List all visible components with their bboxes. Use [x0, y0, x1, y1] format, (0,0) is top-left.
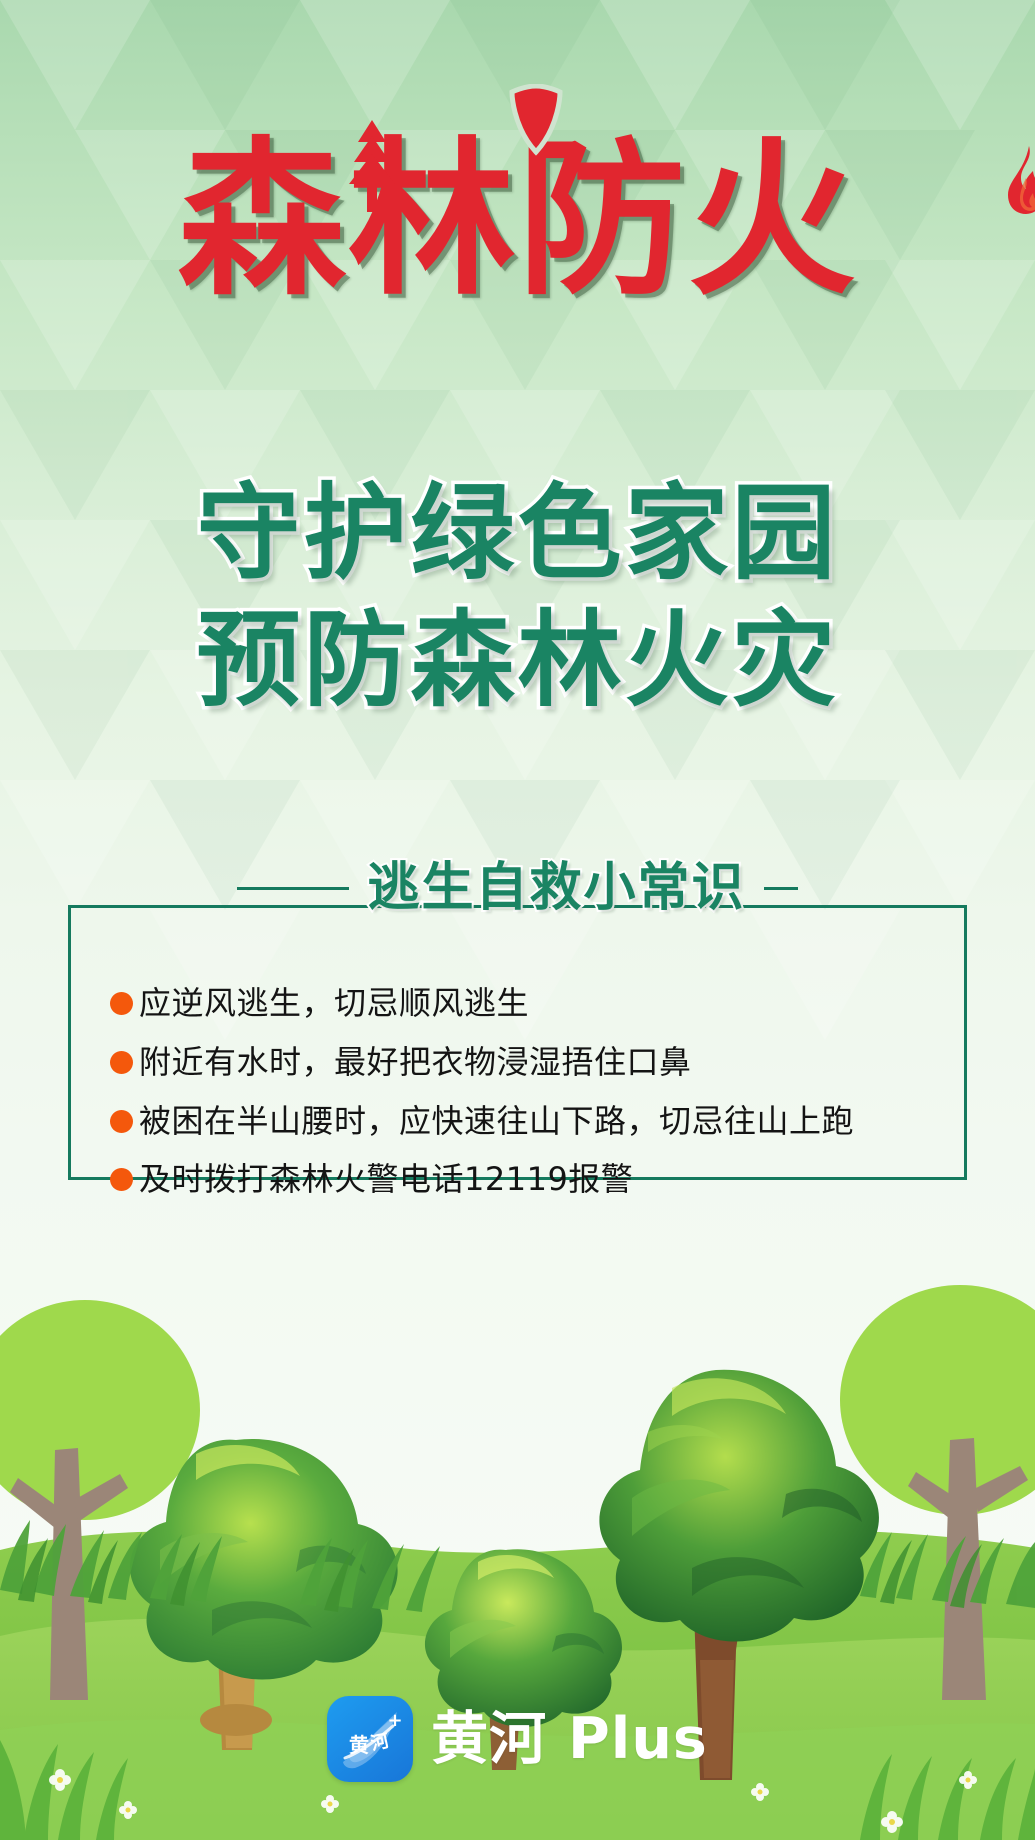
flame-icon	[999, 144, 1035, 216]
huanghe-plus-app-icon[interactable]: 黄 河 +	[327, 1696, 413, 1782]
orange-dot-bullet-icon	[110, 1168, 133, 1191]
shield-icon	[508, 84, 564, 156]
subtitle-block: 守护绿色家园 预防森林火灾	[0, 470, 1035, 724]
orange-dot-bullet-icon	[110, 992, 133, 1015]
tip-text: 附近有水时，最好把衣物浸湿捂住口鼻	[139, 1044, 692, 1082]
tips-header-label: 逃生自救小常识	[367, 862, 745, 914]
page-title: 森林防火	[178, 136, 858, 304]
list-item: 附近有水时，最好把衣物浸湿捂住口鼻	[110, 1044, 940, 1082]
tip-text: 被困在半山腰时，应快速往山下路，切忌往山上跑	[139, 1103, 854, 1141]
list-item: 应逆风逃生，切忌顺风逃生	[110, 985, 940, 1023]
subtitle-line-1: 守护绿色家园	[0, 470, 1035, 597]
tip-text: 及时拨打森林火警电话12119报警	[139, 1161, 633, 1199]
tip-text: 应逆风逃生，切忌顺风逃生	[139, 985, 529, 1023]
poster-root: 森林防火 守护绿色家园 预防森林火灾 逃生	[0, 0, 1035, 1840]
pine-tree-icon	[345, 120, 399, 212]
subtitle-line-2: 预防森林火灾	[0, 597, 1035, 724]
main-title-block: 森林防火	[0, 136, 1035, 304]
tips-list: 应逆风逃生，切忌顺风逃生 附近有水时，最好把衣物浸湿捂住口鼻 被困在半山腰时，应…	[110, 985, 940, 1220]
orange-dot-bullet-icon	[110, 1110, 133, 1133]
header-rule-right	[764, 887, 798, 890]
tips-section-header: 逃生自救小常识	[0, 862, 1035, 914]
list-item: 及时拨打森林火警电话12119报警	[110, 1161, 940, 1199]
brand-name: 黄河 Plus	[431, 1711, 708, 1768]
header-rule-left	[237, 887, 349, 890]
list-item: 被困在半山腰时，应快速往山下路，切忌往山上跑	[110, 1103, 940, 1141]
footer-brand[interactable]: 黄 河 + 黄河 Plus	[0, 1696, 1035, 1782]
orange-dot-bullet-icon	[110, 1051, 133, 1074]
